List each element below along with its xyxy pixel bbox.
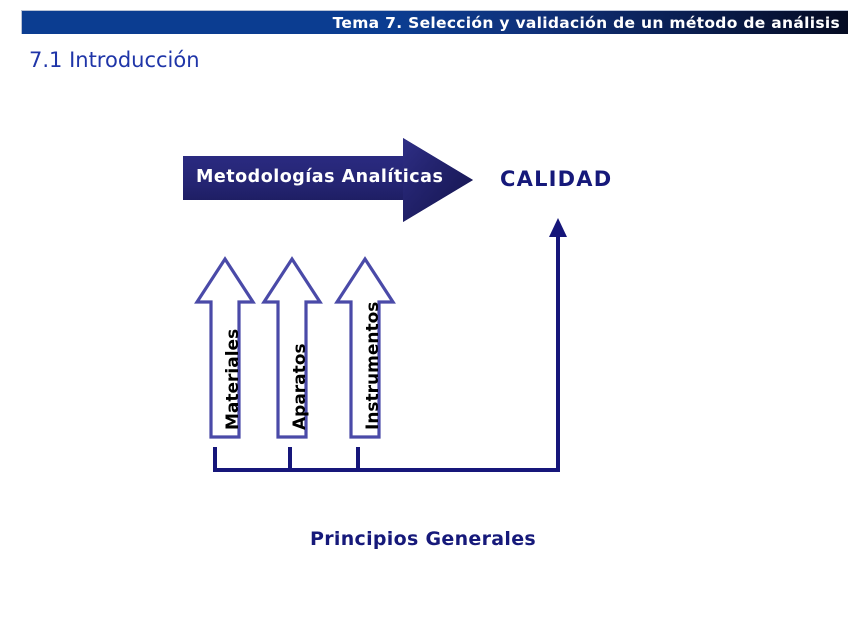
input-arrow-label-aparatos: Aparatos [290,343,310,430]
calidad-output-label: CALIDAD [500,167,612,191]
metodologias-analiticas-label: Metodologías Analíticas [196,167,443,187]
section-heading: 7.1 Introducción [29,48,200,72]
principios-generales-caption: Principios Generales [310,528,536,550]
slide-header-banner: Tema 7. Selección y validación de un mét… [21,10,848,34]
calidad-feed-arrow [540,215,580,445]
connector-bus-lines [200,438,580,480]
input-arrow-label-materiales: Materiales [223,329,243,430]
slide-header-title: Tema 7. Selección y validación de un mét… [333,14,848,32]
input-arrow-label-instrumentos: Instrumentos [363,302,383,430]
